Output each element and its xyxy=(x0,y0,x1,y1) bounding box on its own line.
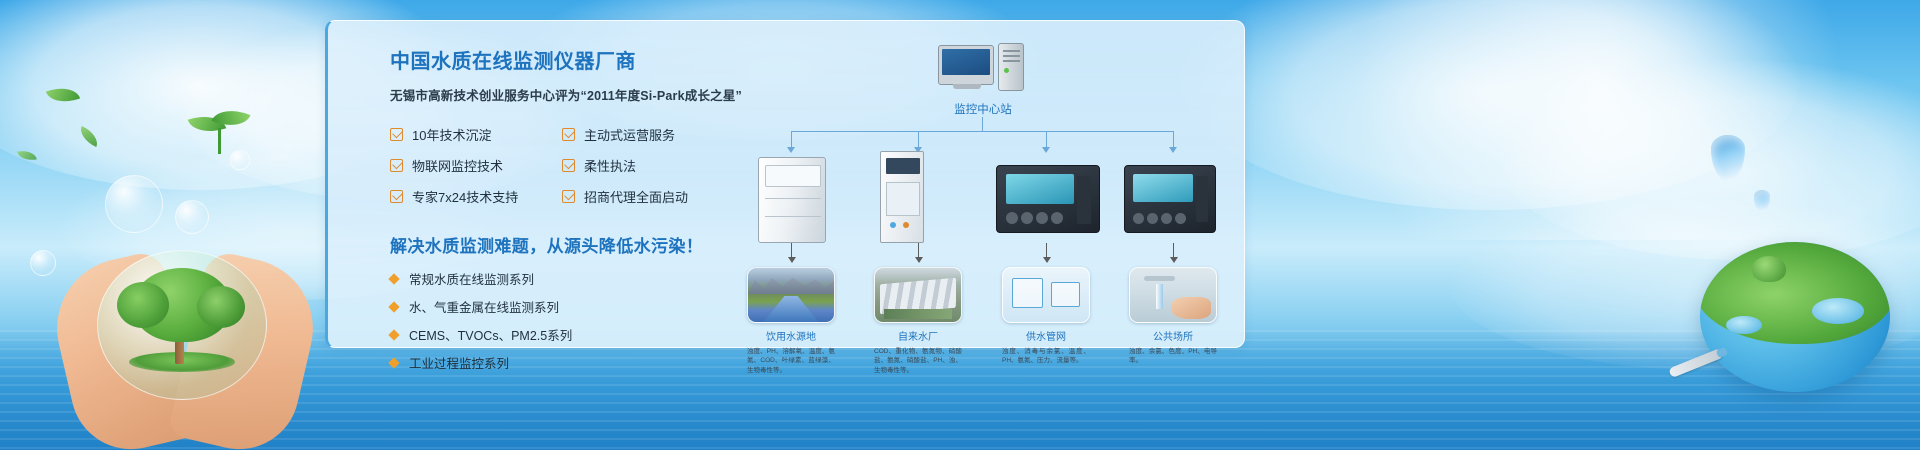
scene-card-water-supply-network[interactable]: 供水管网 浊度、消毒与余氯、温度、PH、氨氮、压力、流量等。 xyxy=(1002,267,1090,366)
scene-thumbnail-pipeline xyxy=(1002,267,1090,323)
checklist-item-label: 招商代理全面启动 xyxy=(584,187,688,206)
lake-shape xyxy=(1812,298,1864,324)
center-station-label: 监控中心站 xyxy=(908,101,1058,117)
computer-tower-icon xyxy=(998,43,1024,91)
sprout-icon xyxy=(190,108,250,154)
bubble-icon xyxy=(30,250,56,276)
device-row xyxy=(758,157,1228,245)
list-item[interactable]: 工业过程监控系列 xyxy=(390,353,730,372)
flow-arrows xyxy=(758,243,1228,265)
monitor-base xyxy=(953,84,981,89)
scene-thumbnail-tap xyxy=(1129,267,1217,323)
rack-analyzer-device xyxy=(880,151,924,243)
scene-thumbnail-river xyxy=(747,267,835,323)
checklist-item[interactable]: 柔性执法 xyxy=(562,156,730,175)
diamond-bullet-icon xyxy=(388,301,399,312)
page-title: 中国水质在线监测仪器厂商 xyxy=(390,45,730,74)
bubble-icon xyxy=(230,150,250,170)
monitoring-center-computer-icon xyxy=(938,43,1030,95)
connector-lines xyxy=(758,117,1228,159)
scene-caption: 自来水厂 xyxy=(874,328,962,343)
scene-caption: 饮用水源地 xyxy=(747,328,835,343)
tree-icon xyxy=(133,268,231,342)
scene-card-waterworks[interactable]: 自来水厂 COD、重化物、氨氮物、硝酸盐、氨氮、硝酸盐、PH、浊、生物毒性等。 xyxy=(874,267,962,375)
washing-hands-shape xyxy=(1171,297,1211,319)
diamond-bullet-icon xyxy=(388,273,399,284)
green-earth-illustration xyxy=(1700,242,1890,392)
checklist-item[interactable]: 10年技术沉淀 xyxy=(390,125,562,144)
checklist-item-label: 柔性执法 xyxy=(584,156,636,175)
arrow-down-icon xyxy=(791,243,792,257)
checklist-item[interactable]: 物联网监控技术 xyxy=(390,156,562,175)
monitoring-system-diagram: 监控中心站 xyxy=(758,35,1228,345)
hands-holding-tree-illustration xyxy=(55,220,315,450)
scene-card-public-places[interactable]: 公共场所 浊度、余氯、色度、PH、电导率。 xyxy=(1129,267,1217,366)
checklist-item-label: 10年技术沉淀 xyxy=(412,125,491,144)
scene-caption: 供水管网 xyxy=(1002,328,1090,343)
diamond-bullet-icon xyxy=(388,329,399,340)
controller-device-large xyxy=(996,165,1100,233)
list-item-label: 工业过程监控系列 xyxy=(409,353,509,372)
tree-icon xyxy=(1752,256,1786,282)
diamond-bullet-icon xyxy=(388,357,399,368)
scene-thumbnail-plant xyxy=(874,267,962,323)
arrow-down-icon xyxy=(1169,147,1177,153)
content-panel: 中国水质在线监测仪器厂商 无锡市高新技术创业服务中心评为“2011年度Si-Pa… xyxy=(325,20,1245,348)
checklist-item[interactable]: 招商代理全面启动 xyxy=(562,187,730,206)
checklist-item-label: 物联网监控技术 xyxy=(412,156,503,175)
scene-caption: 公共场所 xyxy=(1129,328,1217,343)
list-item-label: 水、气重金属在线监测系列 xyxy=(409,297,559,316)
power-led xyxy=(1004,68,1009,73)
checkbox-checked-icon xyxy=(562,128,575,141)
checklist-item-label: 主动式运营服务 xyxy=(584,125,675,144)
scene-description: COD、重化物、氨氮物、硝酸盐、氨氮、硝酸盐、PH、浊、生物毒性等。 xyxy=(874,347,962,375)
list-item[interactable]: CEMS、TVOCs、PM2.5系列 xyxy=(390,325,730,344)
product-series-list: 常规水质在线监测系列 水、气重金属在线监测系列 CEMS、TVOCs、PM2.5… xyxy=(390,269,730,372)
list-item[interactable]: 常规水质在线监测系列 xyxy=(390,269,730,288)
checklist-item[interactable]: 专家7x24技术支持 xyxy=(390,187,562,206)
monitor-screen xyxy=(942,49,990,75)
arrow-down-icon xyxy=(1042,147,1050,153)
checkbox-checked-icon xyxy=(390,190,403,203)
lake-shape xyxy=(1726,316,1762,334)
checklist-item-label: 专家7x24技术支持 xyxy=(412,187,518,206)
scene-description: 浊度、余氯、色度、PH、电导率。 xyxy=(1129,347,1217,366)
scene-card-drinking-water-source[interactable]: 饮用水源地 浊度、PH、溶解氧、温度、氨氮、COD、叶绿素、蓝绿藻、生物毒性等。 xyxy=(747,267,835,375)
monitor-icon xyxy=(938,45,994,85)
checkbox-checked-icon xyxy=(562,159,575,172)
list-item-label: CEMS、TVOCs、PM2.5系列 xyxy=(409,325,572,344)
checklist-item[interactable]: 主动式运营服务 xyxy=(562,125,730,144)
scene-description: 浊度、消毒与余氯、温度、PH、氨氮、压力、流量等。 xyxy=(1002,347,1090,366)
list-item[interactable]: 水、气重金属在线监测系列 xyxy=(390,297,730,316)
checkbox-checked-icon xyxy=(390,159,403,172)
feature-checklist: 10年技术沉淀 主动式运营服务 物联网监控技术 柔性执法 专家7x24技术支持 … xyxy=(390,125,730,206)
list-item-label: 常规水质在线监测系列 xyxy=(409,269,534,288)
page-subtitle: 无锡市高新技术创业服务中心评为“2011年度Si-Park成长之星” xyxy=(390,85,730,104)
controller-device-small xyxy=(1124,165,1216,233)
section-title: 解决水质监测难题，从源头降低水污染！ xyxy=(390,232,730,257)
arrow-down-icon xyxy=(1173,243,1174,257)
cabinet-analyzer-device xyxy=(758,157,826,243)
checkbox-checked-icon xyxy=(562,190,575,203)
left-text-column: 中国水质在线监测仪器厂商 无锡市高新技术创业服务中心评为“2011年度Si-Pa… xyxy=(390,45,730,381)
arrow-down-icon xyxy=(918,243,919,257)
arrow-down-icon xyxy=(1046,243,1047,257)
checkbox-checked-icon xyxy=(390,128,403,141)
arrow-down-icon xyxy=(787,147,795,153)
scene-description: 浊度、PH、溶解氧、温度、氨氮、COD、叶绿素、蓝绿藻、生物毒性等。 xyxy=(747,347,835,375)
